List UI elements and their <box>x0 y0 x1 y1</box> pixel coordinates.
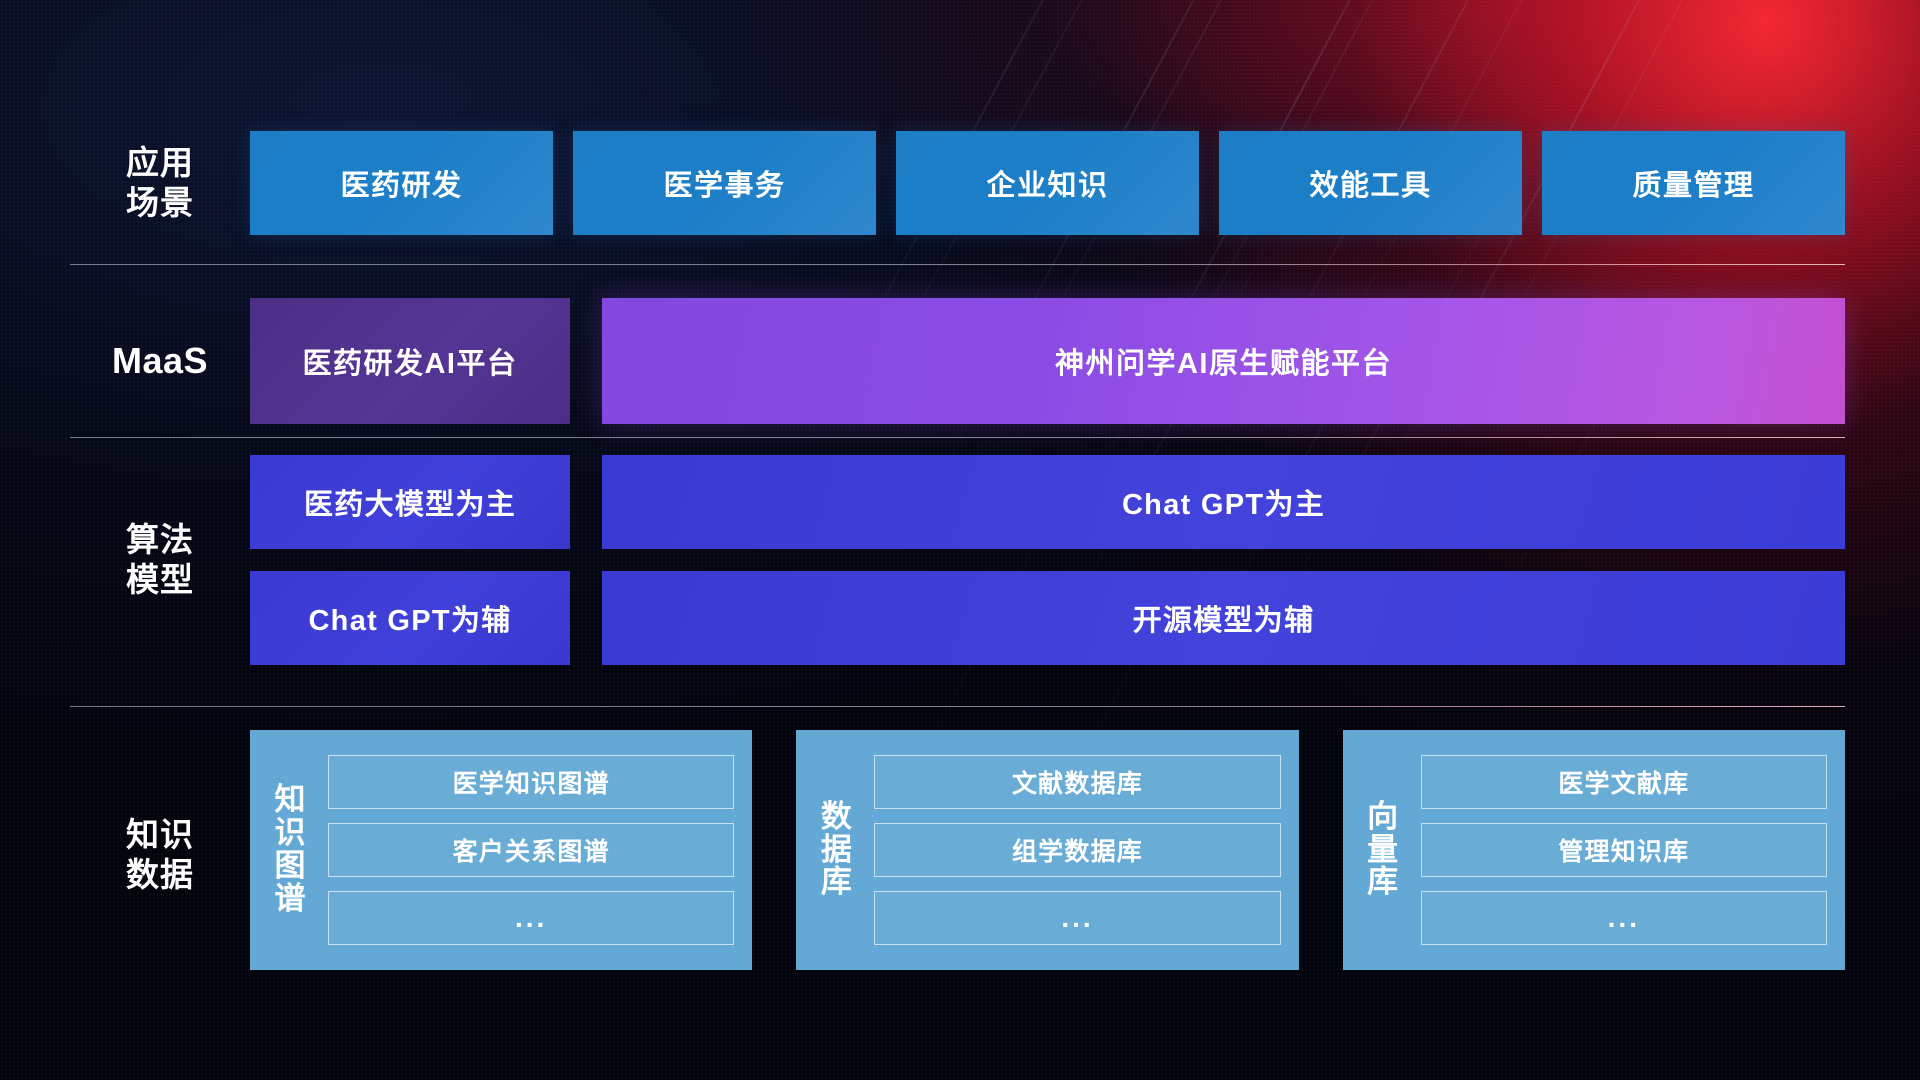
knowledge-chip-more-vector-store[interactable]: ... <box>1421 891 1827 945</box>
divider-algorithm-knowledge <box>70 706 1845 707</box>
vertical-label-glyph: 数 <box>821 801 852 834</box>
knowledge-chip-more-knowledge-graph[interactable]: ... <box>328 891 734 945</box>
maas-box-drug-rd-ai-platform[interactable]: 医药研发AI平台 <box>250 298 570 424</box>
knowledge-chip-omics-database[interactable]: 组学数据库 <box>874 823 1280 877</box>
tier-label-algorithm-models: 算法 模型 <box>70 520 250 601</box>
knowledge-chip-customer-relation-graph[interactable]: 客户关系图谱 <box>328 823 734 877</box>
architecture-diagram-canvas: 应用 场景 医药研发 医学事务 企业知识 效能工具 质量管理 MaaS 医药研发… <box>0 0 1920 1080</box>
knowledge-panel-label-database: 数据库 <box>810 746 862 954</box>
algo-box-chatgpt-secondary[interactable]: Chat GPT为辅 <box>250 571 570 665</box>
knowledge-chip-medical-knowledge-graph[interactable]: 医学知识图谱 <box>328 755 734 809</box>
maas-box-shenzhou-wenxue-platform[interactable]: 神州问学AI原生赋能平台 <box>602 298 1845 424</box>
algorithm-model-rows: 医药大模型为主 Chat GPT为主 Chat GPT为辅 开源模型为辅 <box>250 455 1845 665</box>
algorithm-row-secondary: Chat GPT为辅 开源模型为辅 <box>250 571 1845 665</box>
knowledge-panel-label-knowledge-graph: 知识图谱 <box>264 746 316 954</box>
tier-label-maas: MaaS <box>70 339 250 383</box>
knowledge-chip-management-knowledge-store[interactable]: 管理知识库 <box>1421 823 1827 877</box>
application-scenario-boxes: 医药研发 医学事务 企业知识 效能工具 质量管理 <box>250 131 1845 235</box>
knowledge-chip-more-database[interactable]: ... <box>874 891 1280 945</box>
vertical-label-glyph: 库 <box>821 866 852 899</box>
vertical-label-glyph: 图 <box>275 850 306 883</box>
algo-box-opensource-secondary[interactable]: 开源模型为辅 <box>602 571 1845 665</box>
app-box-efficiency-tools[interactable]: 效能工具 <box>1219 131 1522 235</box>
vertical-label-glyph: 谱 <box>275 883 306 916</box>
tier-knowledge-data: 知识 数据 知识图谱 医学知识图谱 客户关系图谱 ... 数据库 文献数据库 <box>70 730 1845 980</box>
knowledge-panel-label-vector-store: 向量库 <box>1357 746 1409 954</box>
app-box-drug-rd[interactable]: 医药研发 <box>250 131 553 235</box>
knowledge-chip-list-database: 文献数据库 组学数据库 ... <box>874 746 1280 954</box>
knowledge-chip-list-knowledge-graph: 医学知识图谱 客户关系图谱 ... <box>328 746 734 954</box>
algo-box-chatgpt-primary[interactable]: Chat GPT为主 <box>602 455 1845 549</box>
tier-application-scenarios: 应用 场景 医药研发 医学事务 企业知识 效能工具 质量管理 <box>70 128 1845 238</box>
algo-box-pharma-large-model-primary[interactable]: 医药大模型为主 <box>250 455 570 549</box>
algorithm-row-primary: 医药大模型为主 Chat GPT为主 <box>250 455 1845 549</box>
maas-boxes: 医药研发AI平台 神州问学AI原生赋能平台 <box>250 298 1845 424</box>
vertical-label-glyph: 向 <box>1367 801 1398 834</box>
knowledge-panel-knowledge-graph[interactable]: 知识图谱 医学知识图谱 客户关系图谱 ... <box>250 730 752 970</box>
knowledge-chip-medical-literature-store[interactable]: 医学文献库 <box>1421 755 1827 809</box>
app-box-quality-management[interactable]: 质量管理 <box>1542 131 1845 235</box>
tier-label-knowledge-data: 知识 数据 <box>70 815 250 896</box>
knowledge-panel-database[interactable]: 数据库 文献数据库 组学数据库 ... <box>796 730 1298 970</box>
vertical-label-glyph: 量 <box>1367 834 1398 867</box>
app-box-medical-affairs[interactable]: 医学事务 <box>573 131 876 235</box>
tier-maas: MaaS 医药研发AI平台 神州问学AI原生赋能平台 <box>70 295 1845 427</box>
app-box-enterprise-knowledge[interactable]: 企业知识 <box>896 131 1199 235</box>
knowledge-chip-literature-database[interactable]: 文献数据库 <box>874 755 1280 809</box>
tier-label-application-scenarios: 应用 场景 <box>70 143 250 224</box>
tier-algorithm-models: 算法 模型 医药大模型为主 Chat GPT为主 Chat GPT为辅 开源模型… <box>70 455 1845 665</box>
vertical-label-glyph: 识 <box>275 817 306 850</box>
vertical-label-glyph: 库 <box>1367 866 1398 899</box>
knowledge-panels: 知识图谱 医学知识图谱 客户关系图谱 ... 数据库 文献数据库 组学数据库 .… <box>250 730 1845 970</box>
divider-maas-algorithm <box>70 437 1845 438</box>
vertical-label-glyph: 据 <box>821 834 852 867</box>
divider-apps-maas <box>70 264 1845 265</box>
knowledge-panel-vector-store[interactable]: 向量库 医学文献库 管理知识库 ... <box>1343 730 1845 970</box>
vertical-label-glyph: 知 <box>275 784 306 817</box>
knowledge-chip-list-vector-store: 医学文献库 管理知识库 ... <box>1421 746 1827 954</box>
